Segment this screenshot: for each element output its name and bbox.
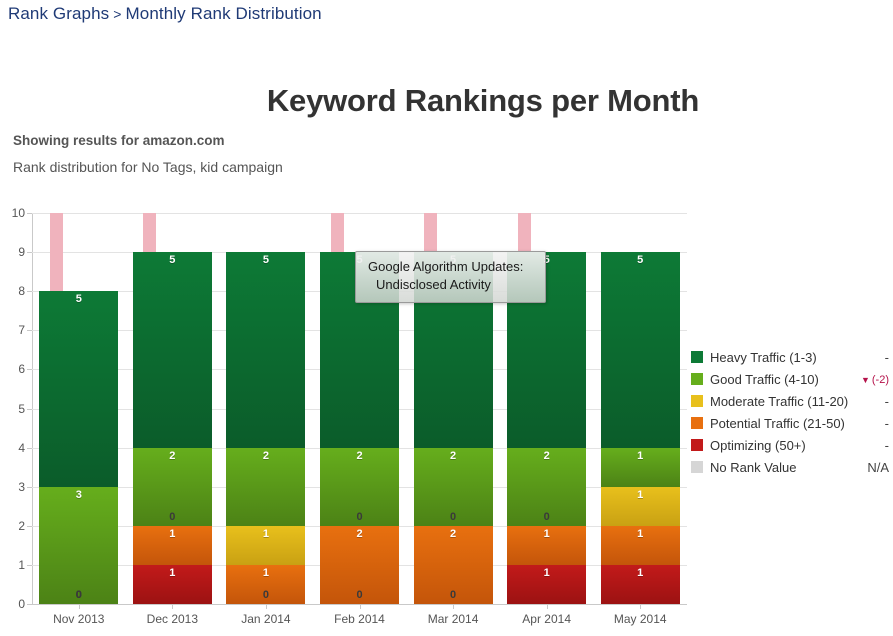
bar-segment[interactable]: 5 <box>133 252 212 448</box>
bar-column[interactable]: 52110 <box>226 252 305 604</box>
legend-color-swatch <box>691 417 703 429</box>
no-rank-marker[interactable] <box>143 213 156 252</box>
x-tick-mark <box>266 604 267 609</box>
bar-segment[interactable]: 1 <box>601 526 680 565</box>
bar-segment-value: 5 <box>601 254 680 267</box>
legend-color-swatch <box>691 351 703 363</box>
breadcrumb-parent-link[interactable]: Rank Graphs <box>8 4 109 23</box>
legend-item-label: Heavy Traffic (1-3) <box>710 347 817 369</box>
bar-segment-value: 2 <box>414 528 493 541</box>
legend-color-swatch <box>691 395 703 407</box>
legend-color-swatch <box>691 373 703 385</box>
legend-item-value: - <box>885 413 889 435</box>
x-axis-label: Mar 2014 <box>428 612 479 626</box>
bar-column[interactable]: 53000 <box>39 291 118 604</box>
bar-column[interactable]: 52020 <box>320 252 399 604</box>
bar-segment-value: 1 <box>133 567 212 580</box>
legend-color-swatch <box>691 439 703 451</box>
bar-segment-value: 1 <box>226 567 305 580</box>
no-rank-marker[interactable] <box>424 213 437 252</box>
y-tick-label-2: 2 <box>18 519 25 533</box>
legend-item[interactable]: Moderate Traffic (11-20)- <box>691 391 889 413</box>
y-tick-mark-7 <box>27 330 32 331</box>
legend-delta-value: (-2) <box>872 374 889 386</box>
bar-segment-value: 3 <box>39 489 118 502</box>
x-tick-mark <box>79 604 80 609</box>
legend-item-value: - <box>885 391 889 413</box>
bar-segment[interactable]: 3 <box>39 487 118 604</box>
bar-column[interactable]: 52011 <box>507 252 586 604</box>
y-tick-label-0: 0 <box>18 597 25 611</box>
x-axis-label: Apr 2014 <box>522 612 571 626</box>
x-tick-mark <box>360 604 361 609</box>
y-tick-mark-6 <box>27 369 32 370</box>
bar-segment[interactable]: 1 <box>601 487 680 526</box>
y-tick-label-9: 9 <box>18 245 25 259</box>
y-tick-mark-2 <box>27 526 32 527</box>
rank-distribution-page: Rank Graphs>Monthly Rank Distribution Ke… <box>0 0 893 636</box>
x-axis-label: Feb 2014 <box>334 612 385 626</box>
bar-segment-value: 2 <box>133 450 212 463</box>
bar-segment-value: 2 <box>320 450 399 463</box>
bar-column[interactable]: 52011 <box>133 252 212 604</box>
legend-delta-down: ▼(-2) <box>861 369 889 391</box>
x-tick-mark <box>172 604 173 609</box>
showing-results-text: Showing results for amazon.com <box>13 133 225 148</box>
bar-segment-value: 0 <box>133 511 212 524</box>
legend-item-label: Potential Traffic (21-50) <box>710 413 845 435</box>
legend-item[interactable]: No Rank ValueN/A <box>691 457 889 479</box>
tooltip-line-2: Undisclosed Activity <box>368 276 536 294</box>
bar-segment[interactable]: 2 <box>226 448 305 526</box>
y-tick-mark-9 <box>27 252 32 253</box>
x-axis-label: Dec 2013 <box>147 612 198 626</box>
legend-item[interactable]: Good Traffic (4-10)▼(-2) <box>691 369 889 391</box>
breadcrumb-current[interactable]: Monthly Rank Distribution <box>126 4 322 23</box>
legend-item-label: Good Traffic (4-10) <box>710 369 819 391</box>
x-axis-label: Jan 2014 <box>241 612 290 626</box>
bar-segment[interactable]: 1 <box>226 526 305 565</box>
bar-segment-value: 5 <box>39 293 118 306</box>
bar-segment[interactable]: 5 <box>226 252 305 448</box>
legend-item-value: - <box>885 347 889 369</box>
y-tick-mark-10 <box>27 213 32 214</box>
y-tick-mark-4 <box>27 448 32 449</box>
legend-item[interactable]: Optimizing (50+)- <box>691 435 889 457</box>
breadcrumb: Rank Graphs>Monthly Rank Distribution <box>8 4 322 24</box>
bar-segment-value: 1 <box>133 528 212 541</box>
no-rank-marker[interactable] <box>518 213 531 252</box>
chart-legend: Heavy Traffic (1-3)-Good Traffic (4-10)▼… <box>691 347 889 479</box>
breadcrumb-separator: > <box>113 6 121 22</box>
x-tick-mark <box>547 604 548 609</box>
bar-segment-value: 0 <box>320 589 399 602</box>
arrow-down-icon: ▼ <box>861 375 870 385</box>
bar-segment-value: 0 <box>320 511 399 524</box>
bar-segment-value: 0 <box>414 511 493 524</box>
bar-segment[interactable]: 1 <box>601 448 680 487</box>
bar-segment-value: 5 <box>133 254 212 267</box>
bar-segment-value: 2 <box>507 450 586 463</box>
bar-segment-value: 1 <box>601 450 680 463</box>
bar-segment[interactable]: 1 <box>133 565 212 604</box>
bar-segment-value: 1 <box>601 489 680 502</box>
y-tick-mark-8 <box>27 291 32 292</box>
legend-item-value: N/A <box>867 457 889 479</box>
bar-segment-value: 0 <box>226 589 305 602</box>
bar-segment[interactable]: 5 <box>39 291 118 487</box>
bar-column[interactable]: 52020 <box>414 252 493 604</box>
y-tick-label-6: 6 <box>18 362 25 376</box>
legend-item-value: - <box>885 435 889 457</box>
bar-segment-value: 0 <box>414 589 493 602</box>
bar-segment[interactable]: 1 <box>507 565 586 604</box>
y-tick-mark-3 <box>27 487 32 488</box>
bar-segment-value: 2 <box>226 450 305 463</box>
x-tick-mark <box>453 604 454 609</box>
legend-item-label: Optimizing (50+) <box>710 435 806 457</box>
y-tick-label-1: 1 <box>18 558 25 572</box>
y-tick-mark-5 <box>27 409 32 410</box>
bar-segment[interactable]: 1 <box>133 526 212 565</box>
tooltip-line-1: Google Algorithm Updates: <box>368 258 536 276</box>
y-tick-mark-1 <box>27 565 32 566</box>
bar-segment-value: 5 <box>226 254 305 267</box>
y-tick-label-10: 10 <box>12 206 25 220</box>
x-tick-mark <box>640 604 641 609</box>
bar-segment-value: 2 <box>320 528 399 541</box>
y-tick-label-4: 4 <box>18 441 25 455</box>
bar-segment[interactable]: 5 <box>601 252 680 448</box>
no-rank-marker[interactable] <box>331 213 344 252</box>
legend-color-swatch <box>691 461 703 473</box>
x-axis-label: May 2014 <box>614 612 667 626</box>
legend-item[interactable]: Potential Traffic (21-50)- <box>691 413 889 435</box>
bar-segment-value: 0 <box>39 589 118 602</box>
no-rank-marker[interactable] <box>50 213 63 291</box>
bar-segment-value: 1 <box>601 567 680 580</box>
page-title: Keyword Rankings per Month <box>0 83 893 119</box>
bar-segment-value: 0 <box>507 511 586 524</box>
y-tick-label-8: 8 <box>18 284 25 298</box>
bar-segment[interactable]: 1 <box>507 526 586 565</box>
gridline-10 <box>32 213 687 214</box>
y-tick-label-5: 5 <box>18 402 25 416</box>
bar-segment-value: 1 <box>601 528 680 541</box>
legend-item-label: Moderate Traffic (11-20) <box>710 391 848 413</box>
bar-column[interactable]: 51111 <box>601 252 680 604</box>
legend-item[interactable]: Heavy Traffic (1-3)- <box>691 347 889 369</box>
bar-segment-value: 1 <box>507 528 586 541</box>
y-tick-label-3: 3 <box>18 480 25 494</box>
bar-segment-value: 1 <box>226 528 305 541</box>
bar-segment-value: 1 <box>507 567 586 580</box>
legend-item-label: No Rank Value <box>710 457 796 479</box>
algorithm-update-tooltip: Google Algorithm Updates: Undisclosed Ac… <box>355 251 546 303</box>
y-tick-label-7: 7 <box>18 323 25 337</box>
chart-subtitle: Rank distribution for No Tags, kid campa… <box>13 159 283 175</box>
bar-segment[interactable]: 1 <box>601 565 680 604</box>
bar-segment-value: 2 <box>414 450 493 463</box>
x-axis-label: Nov 2013 <box>53 612 104 626</box>
